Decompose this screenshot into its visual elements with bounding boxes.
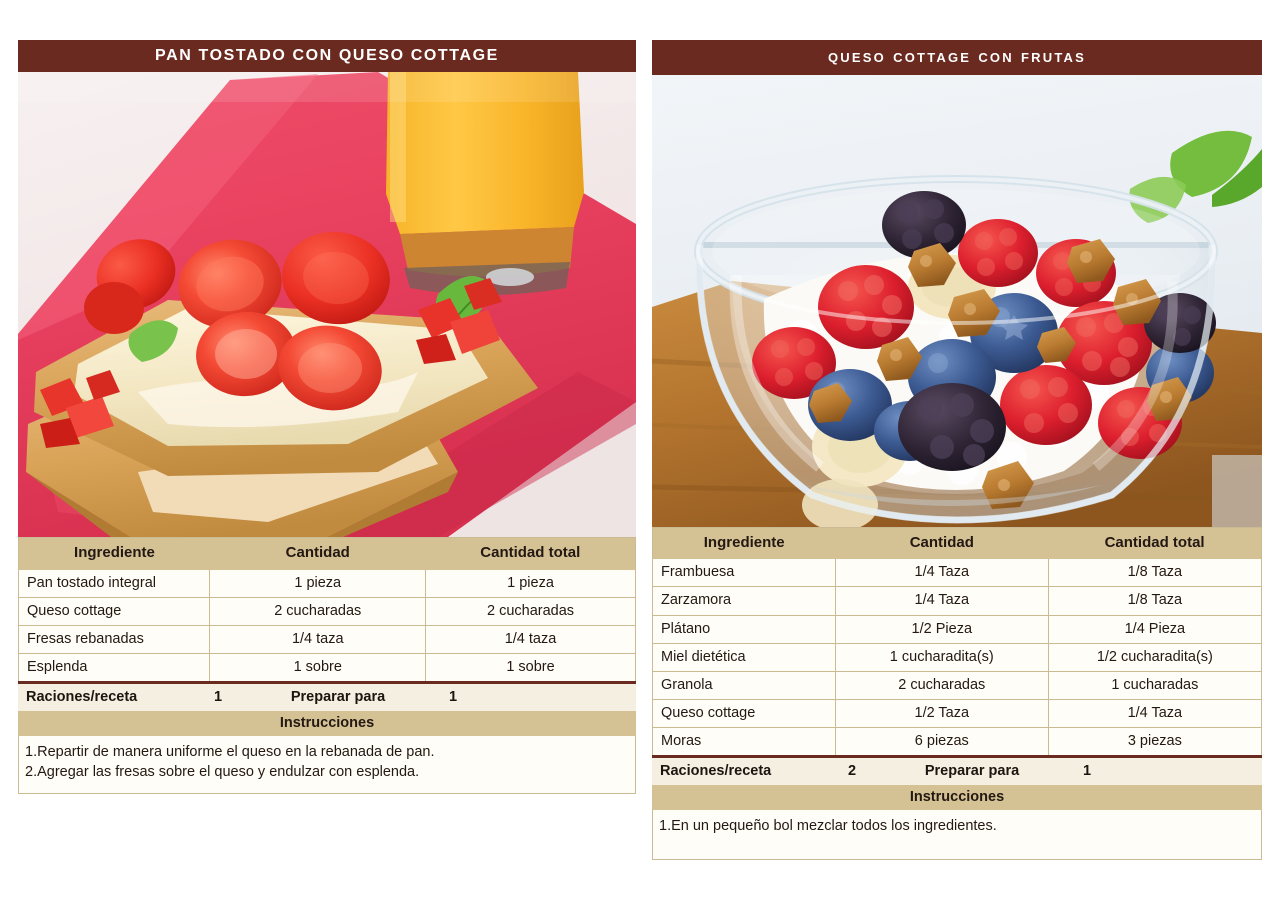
table-row: Pan tostado integral 1 pieza 1 pieza — [19, 570, 635, 598]
cell-amount: 1 sobre — [210, 654, 426, 682]
servings-recipe-label: Raciones/receta — [18, 689, 178, 705]
col-cantidad-total: Cantidad total — [426, 538, 635, 570]
table-header-row: Ingrediente Cantidad Cantidad total — [19, 538, 635, 570]
servings-recipe-value: 2 — [812, 763, 892, 779]
ingredients-table: Ingrediente Cantidad Cantidad total Fram… — [653, 528, 1261, 756]
ingredients-table-wrap: Ingrediente Cantidad Cantidad total Fram… — [652, 527, 1262, 756]
cell-amount: 1/4 taza — [210, 626, 426, 654]
instructions-body: 1.Repartir de manera uniforme el queso e… — [18, 736, 636, 794]
prepare-for-value: 1 — [1052, 763, 1122, 779]
table-row: Queso cottage 1/2 Taza 1/4 Taza — [653, 699, 1261, 727]
prepare-for-value: 1 — [418, 689, 488, 705]
ingredients-table: Ingrediente Cantidad Cantidad total Pan … — [19, 538, 635, 681]
cell-ingredient: Frambuesa — [653, 559, 835, 587]
cell-total: 1/4 taza — [426, 626, 635, 654]
recipe-sheet: Pan tostado con queso cottage — [0, 0, 1280, 905]
cell-ingredient: Esplenda — [19, 654, 210, 682]
instruction-step: 1.En un pequeño bol mezclar todos los in… — [659, 816, 1257, 836]
recipe-photo-queso-frutas — [652, 75, 1262, 527]
cell-ingredient: Granola — [653, 671, 835, 699]
cell-ingredient: Queso cottage — [653, 699, 835, 727]
cell-amount: 1/2 Pieza — [835, 615, 1048, 643]
cell-total: 2 cucharadas — [426, 598, 635, 626]
cell-total: 1 pieza — [426, 570, 635, 598]
recipe-card-pan-tostado: Pan tostado con queso cottage — [18, 40, 636, 794]
recipe-card-queso-cottage-frutas: Queso cottage con frutas — [652, 40, 1262, 860]
cell-total: 1/8 Taza — [1048, 559, 1261, 587]
recipe-title-bar: Queso cottage con frutas — [652, 40, 1262, 75]
ingredients-table-wrap: Ingrediente Cantidad Cantidad total Pan … — [18, 537, 636, 681]
table-header-row: Ingrediente Cantidad Cantidad total — [653, 528, 1261, 560]
col-ingrediente: Ingrediente — [19, 538, 210, 570]
col-cantidad: Cantidad — [210, 538, 426, 570]
cell-ingredient: Pan tostado integral — [19, 570, 210, 598]
instruction-step: 1.Repartir de manera uniforme el queso e… — [25, 742, 631, 762]
cell-amount: 2 cucharadas — [210, 598, 426, 626]
cell-total: 1/2 cucharadita(s) — [1048, 643, 1261, 671]
col-cantidad-total: Cantidad total — [1048, 528, 1261, 560]
prepare-for-label: Preparar para — [892, 763, 1052, 779]
cell-ingredient: Fresas rebanadas — [19, 626, 210, 654]
servings-row: Raciones/receta 1 Preparar para 1 — [18, 681, 636, 711]
table-row: Granola 2 cucharadas 1 cucharadas — [653, 671, 1261, 699]
recipe-photo-pan-tostado — [18, 72, 636, 537]
prepare-for-label: Preparar para — [258, 689, 418, 705]
servings-recipe-label: Raciones/receta — [652, 763, 812, 779]
col-cantidad: Cantidad — [835, 528, 1048, 560]
table-row: Queso cottage 2 cucharadas 2 cucharadas — [19, 598, 635, 626]
cell-ingredient: Plátano — [653, 615, 835, 643]
cell-total: 1/8 Taza — [1048, 587, 1261, 615]
cell-ingredient: Queso cottage — [19, 598, 210, 626]
cell-amount: 6 piezas — [835, 728, 1048, 756]
cell-ingredient: Moras — [653, 728, 835, 756]
cell-total: 1/4 Pieza — [1048, 615, 1261, 643]
cell-ingredient: Zarzamora — [653, 587, 835, 615]
cell-amount: 2 cucharadas — [835, 671, 1048, 699]
cell-total: 1 cucharadas — [1048, 671, 1261, 699]
cell-amount: 1/2 Taza — [835, 699, 1048, 727]
servings-recipe-value: 1 — [178, 689, 258, 705]
table-row: Zarzamora 1/4 Taza 1/8 Taza — [653, 587, 1261, 615]
cell-amount: 1 cucharadita(s) — [835, 643, 1048, 671]
servings-row: Raciones/receta 2 Preparar para 1 — [652, 755, 1262, 785]
cell-total: 3 piezas — [1048, 728, 1261, 756]
table-row: Esplenda 1 sobre 1 sobre — [19, 654, 635, 682]
instructions-header: Instrucciones — [18, 711, 636, 736]
table-row: Frambuesa 1/4 Taza 1/8 Taza — [653, 559, 1261, 587]
instructions-header: Instrucciones — [652, 785, 1262, 810]
table-row: Moras 6 piezas 3 piezas — [653, 728, 1261, 756]
col-ingrediente: Ingrediente — [653, 528, 835, 560]
cell-amount: 1 pieza — [210, 570, 426, 598]
cell-total: 1 sobre — [426, 654, 635, 682]
cell-amount: 1/4 Taza — [835, 559, 1048, 587]
table-row: Plátano 1/2 Pieza 1/4 Pieza — [653, 615, 1261, 643]
cell-ingredient: Miel dietética — [653, 643, 835, 671]
table-row: Fresas rebanadas 1/4 taza 1/4 taza — [19, 626, 635, 654]
cell-total: 1/4 Taza — [1048, 699, 1261, 727]
table-row: Miel dietética 1 cucharadita(s) 1/2 cuch… — [653, 643, 1261, 671]
instruction-step: 2.Agregar las fresas sobre el queso y en… — [25, 762, 631, 782]
instructions-body: 1.En un pequeño bol mezclar todos los in… — [652, 810, 1262, 860]
recipe-title-bar: Pan tostado con queso cottage — [18, 40, 636, 72]
cell-amount: 1/4 Taza — [835, 587, 1048, 615]
